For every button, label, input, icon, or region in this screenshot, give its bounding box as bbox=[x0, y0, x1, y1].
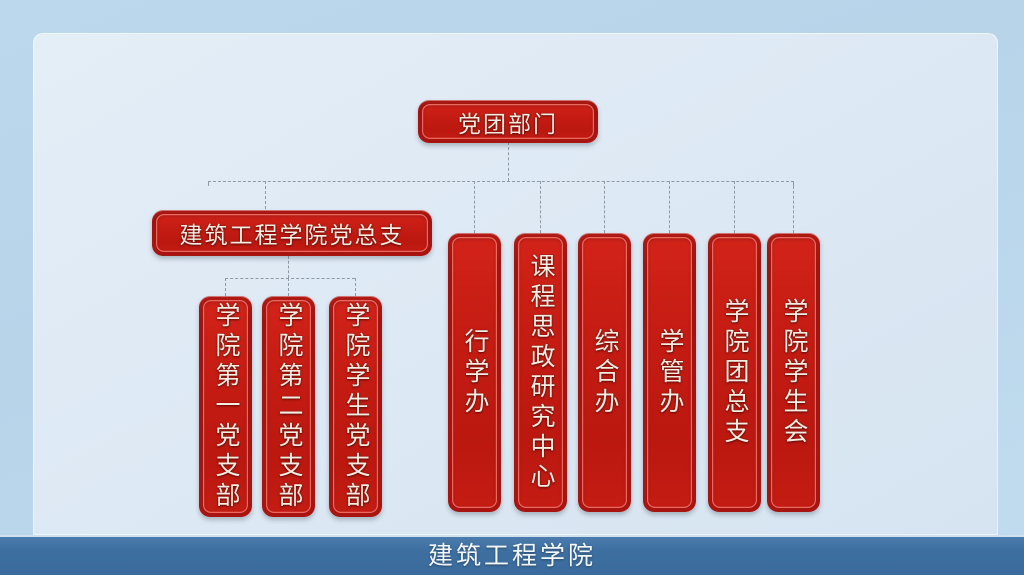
org-node-party-branch-2-label: 学院第二党支部 bbox=[276, 302, 301, 512]
connector-bus-left-tick bbox=[208, 181, 209, 186]
org-node-party-general-branch-body: 建筑工程学院党总支 bbox=[156, 214, 428, 252]
connector-drop-dept-1 bbox=[474, 181, 475, 233]
org-node-party-branch-3[interactable]: 学院学生党支部 bbox=[329, 296, 382, 517]
org-node-party-branch-1-body: 学院第一党支部 bbox=[203, 300, 248, 513]
org-node-dept-3-label: 综合办 bbox=[592, 328, 617, 418]
org-node-dept-3-body: 综合办 bbox=[582, 237, 627, 508]
org-node-dept-4-label: 学管办 bbox=[657, 328, 682, 418]
org-node-dept-6-label: 学院学生会 bbox=[781, 298, 806, 448]
connector-drop-party-2 bbox=[288, 278, 289, 296]
connector-root-stem bbox=[508, 142, 509, 181]
org-node-dept-5-body: 学院团总支 bbox=[712, 237, 757, 508]
org-node-dept-3[interactable]: 综合办 bbox=[578, 233, 631, 512]
org-node-party-branch-2[interactable]: 学院第二党支部 bbox=[262, 296, 315, 517]
org-node-dept-6-body: 学院学生会 bbox=[771, 237, 816, 508]
org-node-dept-5[interactable]: 学院团总支 bbox=[708, 233, 761, 512]
org-node-party-branch-2-body: 学院第二党支部 bbox=[266, 300, 311, 513]
org-node-party-branch-3-label: 学院学生党支部 bbox=[343, 302, 368, 512]
org-node-dept-6[interactable]: 学院学生会 bbox=[767, 233, 820, 512]
org-node-dept-2-label: 课程思政研究中心 bbox=[528, 253, 553, 493]
connector-drop-dept-6 bbox=[793, 181, 794, 233]
connector-sub-bus bbox=[225, 278, 355, 279]
connector-branch-stem bbox=[288, 256, 289, 278]
org-node-dept-5-label: 学院团总支 bbox=[722, 298, 747, 448]
org-node-root-body: 党团部门 bbox=[422, 104, 594, 139]
org-node-root[interactable]: 党团部门 bbox=[418, 100, 598, 143]
org-node-party-branch-3-body: 学院学生党支部 bbox=[333, 300, 378, 513]
connector-drop-dept-5 bbox=[734, 181, 735, 233]
org-node-party-branch-1-label: 学院第一党支部 bbox=[213, 302, 238, 512]
connector-drop-dept-4 bbox=[669, 181, 670, 233]
org-node-party-general-branch[interactable]: 建筑工程学院党总支 bbox=[152, 210, 432, 256]
org-node-dept-4-body: 学管办 bbox=[647, 237, 692, 508]
footer-title: 建筑工程学院 bbox=[0, 537, 1024, 575]
slide-canvas: 党团部门 建筑工程学院党总支 学院第一党支部 学院第二党支部 学院学生党支部 行… bbox=[0, 0, 1024, 575]
connector-drop-branch bbox=[265, 181, 266, 209]
org-node-party-general-branch-label: 建筑工程学院党总支 bbox=[180, 216, 405, 250]
connector-main-bus bbox=[208, 181, 794, 182]
org-node-root-label: 党团部门 bbox=[458, 105, 558, 139]
connector-drop-dept-2 bbox=[540, 181, 541, 233]
org-node-dept-2-body: 课程思政研究中心 bbox=[518, 237, 563, 508]
org-node-dept-1[interactable]: 行学办 bbox=[448, 233, 501, 512]
org-node-dept-4[interactable]: 学管办 bbox=[643, 233, 696, 512]
footer-bar: 建筑工程学院 bbox=[0, 535, 1024, 575]
org-node-dept-2[interactable]: 课程思政研究中心 bbox=[514, 233, 567, 512]
org-node-party-branch-1[interactable]: 学院第一党支部 bbox=[199, 296, 252, 517]
connector-drop-party-3 bbox=[355, 278, 356, 296]
connector-drop-party-1 bbox=[225, 278, 226, 296]
org-node-dept-1-body: 行学办 bbox=[452, 237, 497, 508]
org-node-dept-1-label: 行学办 bbox=[462, 328, 487, 418]
connector-drop-dept-3 bbox=[604, 181, 605, 233]
